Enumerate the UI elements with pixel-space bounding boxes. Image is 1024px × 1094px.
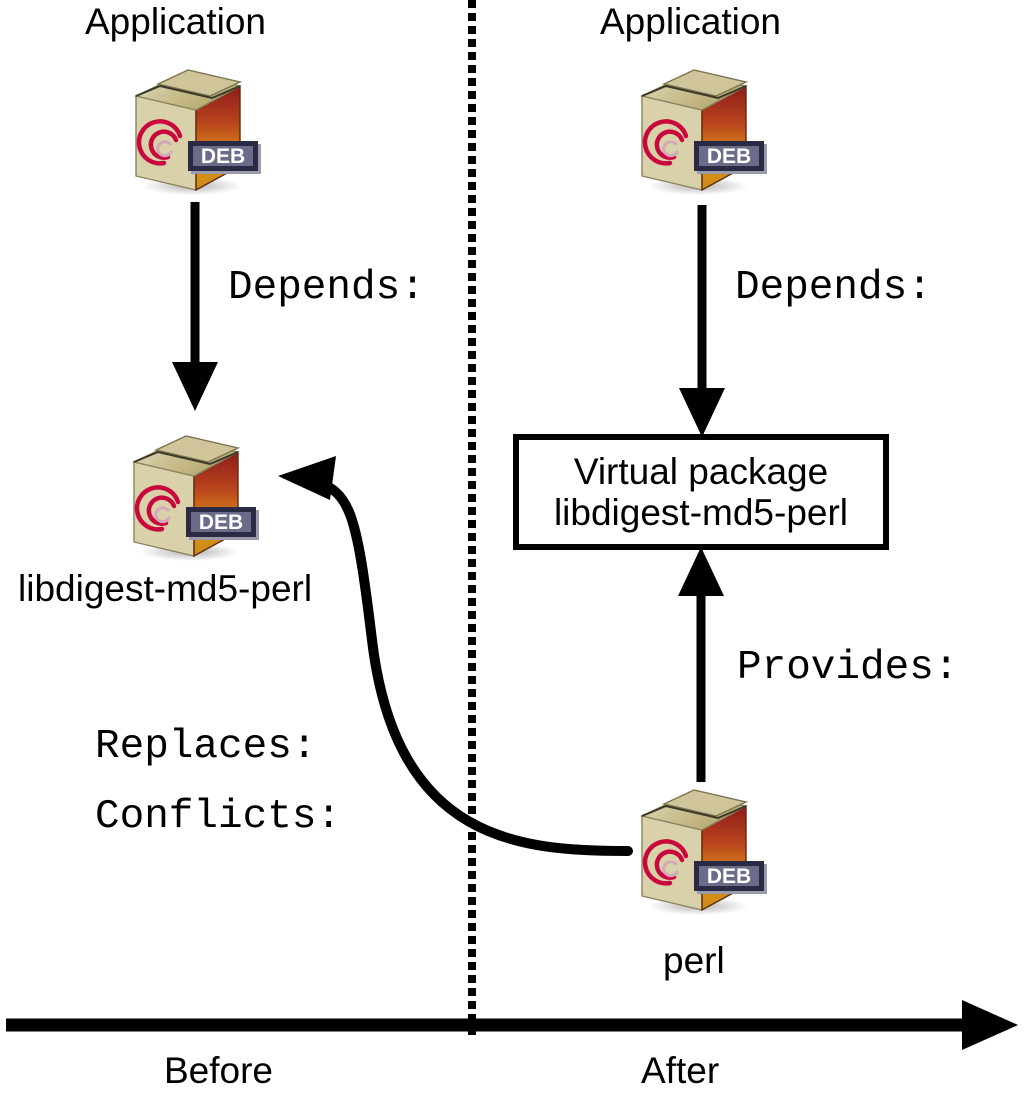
left-depends-arrow xyxy=(172,202,218,411)
libdigest-md5-perl-label: libdigest-md5-perl xyxy=(18,570,312,607)
deb-package-icon: DEB xyxy=(626,58,774,198)
virtual-package-line2: libdigest-md5-perl xyxy=(554,492,848,533)
timeline-axis xyxy=(6,1000,1018,1050)
svg-text:DEB: DEB xyxy=(199,511,243,534)
svg-text:DEB: DEB xyxy=(707,865,751,888)
after-label: After xyxy=(641,1052,719,1089)
right-depends-label: Depends: xyxy=(735,268,932,309)
left-depends-label: Depends: xyxy=(228,268,425,309)
provides-label: Provides: xyxy=(737,648,958,689)
right-depends-arrow xyxy=(679,205,725,437)
conflicts-label: Conflicts: xyxy=(95,797,341,838)
deb-package-icon: DEB xyxy=(118,424,266,564)
before-after-divider xyxy=(468,0,476,1040)
perl-label: perl xyxy=(663,942,725,979)
provides-arrow xyxy=(678,547,724,782)
virtual-package-line1: Virtual package xyxy=(574,451,828,492)
deb-badge: DEB xyxy=(188,141,261,174)
replaces-label: Replaces: xyxy=(95,727,316,768)
deb-package-icon: DEB xyxy=(120,58,268,198)
left-application-label: Application xyxy=(85,3,266,40)
deb-package-icon: DEB xyxy=(626,778,774,918)
right-application-label: Application xyxy=(600,3,781,40)
deb-badge: DEB xyxy=(694,141,767,174)
diagram-canvas: Application xyxy=(0,0,1024,1094)
deb-badge: DEB xyxy=(186,507,259,540)
before-label: Before xyxy=(164,1052,273,1089)
svg-text:DEB: DEB xyxy=(707,145,751,168)
svg-text:DEB: DEB xyxy=(201,145,245,168)
deb-badge: DEB xyxy=(694,861,767,894)
virtual-package-box: Virtual package libdigest-md5-perl xyxy=(513,434,889,550)
